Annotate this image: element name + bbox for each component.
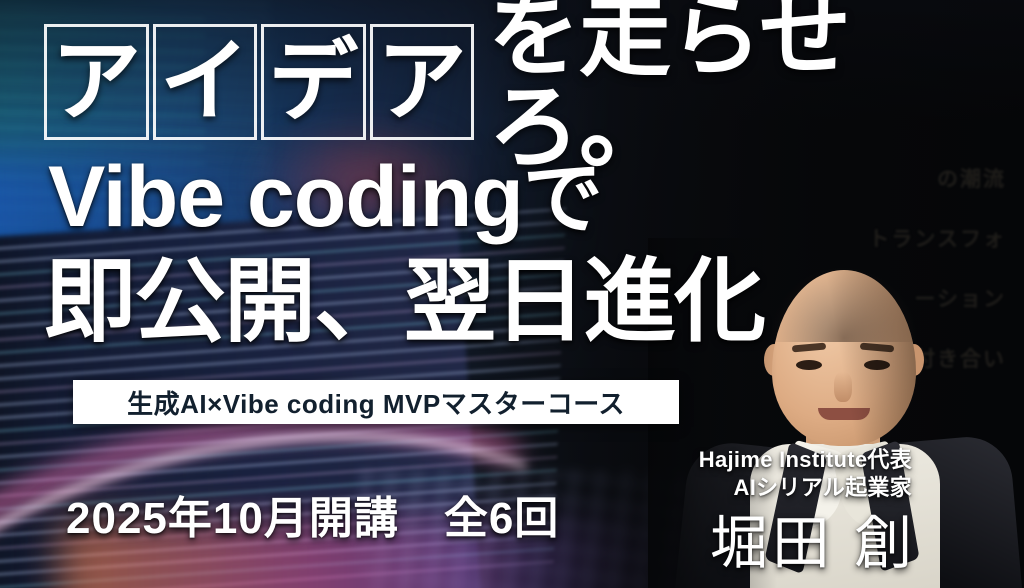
course-promo-banner: の潮流 トランスフォ ーション との付き合い ア イ デ ア を走らせろ。 — [0, 0, 1024, 588]
headline-line-3: 即公開、翌日進化 — [44, 252, 764, 353]
banner-content: ア イ デ ア を走らせろ。 Vibe codingで 即公開、翌日進化 生成A… — [0, 0, 1024, 588]
boxed-char-4: ア — [370, 24, 475, 140]
schedule-label: 2025年10月開講 全6回 — [66, 482, 559, 546]
headline-line-2: Vibe codingで — [48, 150, 602, 245]
headline-line-1: ア イ デ ア を走らせろ。 — [44, 22, 1024, 142]
boxed-char-1: ア — [44, 24, 149, 140]
headline-line-1-tail: を走らせろ。 — [488, 0, 1024, 174]
course-title-badge: 生成AI×Vibe coding MVPマスターコース — [73, 380, 679, 424]
headline-line-2-jp: で — [523, 154, 602, 243]
speaker-name: 堀田 創 — [710, 496, 916, 580]
course-title-badge-label: 生成AI×Vibe coding MVPマスターコース — [127, 384, 625, 421]
boxed-char-2: イ — [153, 24, 258, 140]
boxed-char-3: デ — [261, 24, 366, 140]
speaker-role-block: Hajime Institute代表 AIシリアル起業家 — [699, 446, 912, 502]
speaker-role-line-1: Hajime Institute代表 — [699, 446, 912, 474]
headline-line-2-latin: Vibe coding — [48, 149, 523, 245]
